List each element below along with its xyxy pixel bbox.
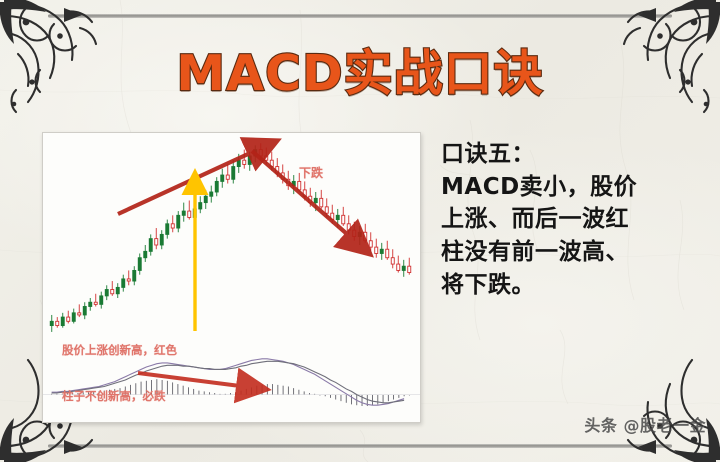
lesson-line-1: 口诀五： <box>441 138 691 171</box>
divergence-note-line-2: 柱子不创新高，必跌 <box>62 389 177 404</box>
slide-canvas: MACD实战口诀 <box>0 0 720 462</box>
frame-rule-bottom <box>48 444 672 448</box>
divergence-note: 股价上涨创新高，红色 柱子不创新高，必跌 <box>62 313 177 434</box>
lesson-line-5: 将下跌。 <box>441 269 691 302</box>
lesson-line-3: 上涨、而后一波红 <box>441 203 691 236</box>
page-title: MACD实战口诀 <box>0 34 720 105</box>
lesson-line-2: MACD卖小，股价 <box>441 171 691 204</box>
divergence-note-line-1: 股价上涨创新高，红色 <box>62 343 177 358</box>
frame-rule-top <box>48 14 672 18</box>
down-label: 下跌 <box>299 166 323 182</box>
lesson-line-4: 柱没有前一波高、 <box>441 236 691 269</box>
lesson-text-block: 口诀五： MACD卖小，股价 上涨、而后一波红 柱没有前一波高、 将下跌。 <box>441 138 691 301</box>
watermark: 头条 @股老一金 <box>584 412 706 436</box>
